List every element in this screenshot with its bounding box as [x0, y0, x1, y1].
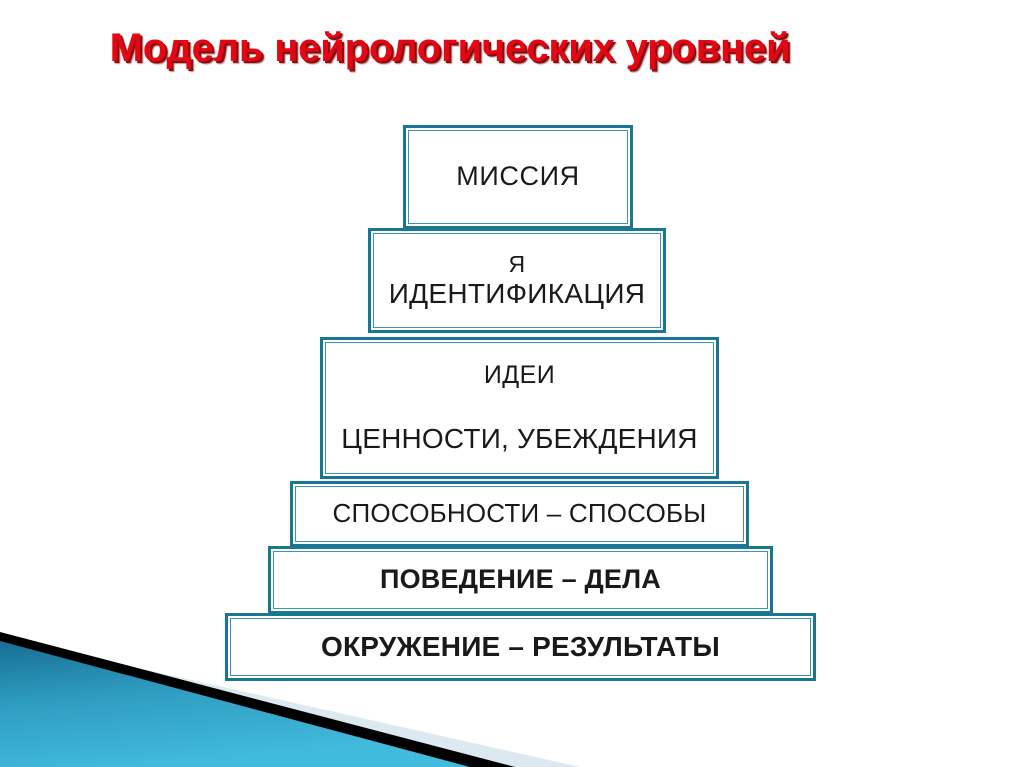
pyramid-level-label: ПОВЕДЕНИЕ – ДЕЛА	[271, 564, 770, 595]
pyramid-level-label-line2: ЦЕННОСТИ, УБЕЖДЕНИЯ	[323, 423, 716, 455]
pyramid-level-label-line1: Я	[371, 251, 663, 277]
neurological-levels-pyramid: МИССИЯ Я ИДЕНТИФИКАЦИЯ ИДЕИ ЦЕННОСТИ, УБ…	[0, 0, 1024, 690]
pyramid-level-identity[interactable]: Я ИДЕНТИФИКАЦИЯ	[368, 228, 666, 333]
pyramid-level-capabilities[interactable]: СПОСОБНОСТИ – СПОСОБЫ	[290, 481, 749, 547]
pyramid-level-mission[interactable]: МИССИЯ	[403, 125, 633, 229]
pyramid-level-label-line2: ИДЕНТИФИКАЦИЯ	[371, 278, 663, 310]
pyramid-level-label: МИССИЯ	[406, 161, 630, 192]
pyramid-level-label: СПОСОБНОСТИ – СПОСОБЫ	[293, 499, 746, 529]
pyramid-level-label-line1: ИДЕИ	[323, 361, 716, 390]
pyramid-level-beliefs[interactable]: ИДЕИ ЦЕННОСТИ, УБЕЖДЕНИЯ	[320, 337, 719, 479]
pyramid-level-label: ОКРУЖЕНИЕ – РЕЗУЛЬТАТЫ	[228, 631, 813, 663]
pyramid-level-environment[interactable]: ОКРУЖЕНИЕ – РЕЗУЛЬТАТЫ	[225, 613, 816, 681]
slide-canvas: Модель нейрологических уровней МИССИЯ Я …	[0, 0, 1024, 767]
pyramid-level-behaviour[interactable]: ПОВЕДЕНИЕ – ДЕЛА	[268, 546, 773, 614]
